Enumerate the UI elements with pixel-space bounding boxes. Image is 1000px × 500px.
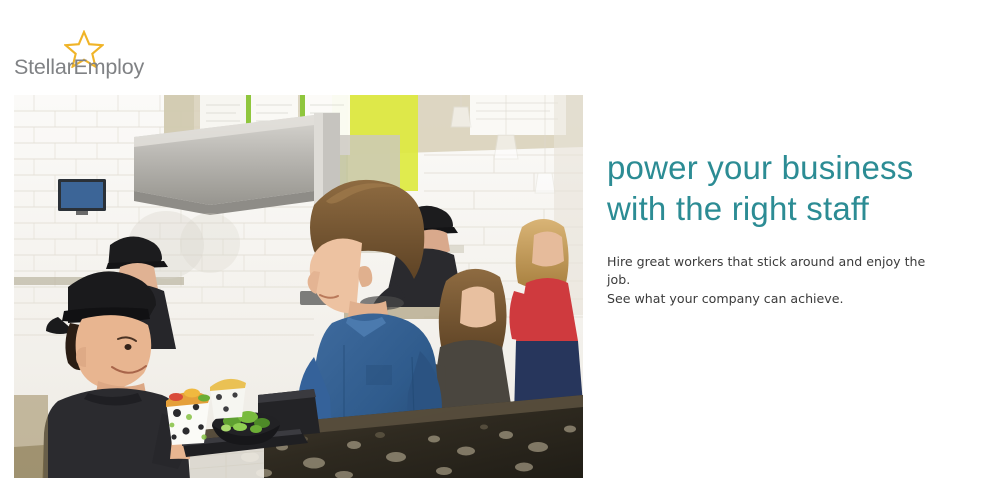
hero-photo-illustration bbox=[14, 95, 583, 478]
brand-logo[interactable]: StellarEmploy bbox=[14, 30, 214, 85]
page-title: power your business with the right staff bbox=[607, 148, 937, 229]
hero-photo bbox=[14, 95, 583, 478]
hero-copy: power your business with the right staff… bbox=[607, 148, 937, 308]
brand-wordmark: StellarEmploy bbox=[14, 57, 144, 79]
hero-subcopy: Hire great workers that stick around and… bbox=[607, 253, 937, 308]
